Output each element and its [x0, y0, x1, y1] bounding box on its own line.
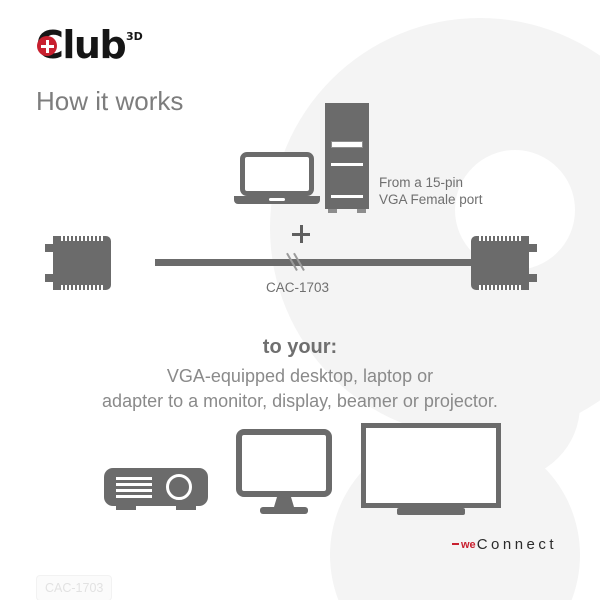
connector-left-pins-bottom — [59, 285, 105, 290]
desktop-tower-icon — [325, 103, 369, 215]
monitor-icon — [236, 429, 332, 515]
poster-canvas: Club 3D How it works From a 15-pin VGA F… — [0, 0, 600, 600]
projector-lens — [166, 474, 192, 500]
projector-vent-2 — [116, 483, 152, 486]
connector-right-pins-top — [477, 236, 523, 241]
description-line2: adapter to a monitor, display, beamer or… — [0, 389, 600, 414]
projector-vent-4 — [116, 495, 152, 498]
weconnect-we-text: we — [461, 539, 476, 551]
description-line1: VGA-equipped desktop, laptop or — [0, 364, 600, 389]
weconnect-dash-icon — [452, 543, 459, 545]
laptop-trackpad — [269, 198, 285, 202]
page-title: How it works — [36, 86, 183, 117]
television-stand — [397, 508, 465, 515]
to-your-heading: to your: — [0, 336, 600, 359]
tower-foot-left — [328, 209, 337, 213]
projector-vent-3 — [116, 489, 152, 492]
tower-drive-bay — [331, 141, 363, 148]
connector-right-pins-bottom — [477, 285, 523, 290]
connector-right-screw-bottom — [528, 274, 537, 282]
weconnect-logo: weConnect — [452, 536, 557, 556]
connector-left-pins-top — [59, 236, 105, 241]
monitor-stand — [260, 507, 308, 514]
connector-left-screw-top — [45, 244, 54, 252]
connector-left-body — [53, 236, 111, 290]
television-screen — [361, 423, 501, 508]
laptop-screen — [240, 152, 314, 196]
television-icon — [361, 423, 501, 518]
cable-wire — [155, 259, 515, 266]
tower-slot-upper — [331, 163, 363, 166]
laptop-icon — [234, 152, 320, 208]
logo-superscript: 3D — [126, 30, 143, 43]
monitor-screen — [236, 429, 332, 497]
tower-slot-lower — [331, 195, 363, 198]
cable-model-label: CAC-1703 — [266, 280, 329, 295]
weconnect-connect-text: Connect — [477, 536, 557, 553]
tower-foot-right — [357, 209, 366, 213]
connector-left-screw-bottom — [45, 274, 54, 282]
projector-body — [104, 468, 208, 506]
connector-right-screw-top — [528, 244, 537, 252]
tower-case — [325, 103, 369, 209]
source-port-label-line2: VGA Female port — [379, 191, 483, 208]
cable-leader-line — [289, 252, 307, 274]
vga-connector-left — [45, 232, 111, 294]
vga-connector-right — [471, 232, 537, 294]
projector-icon — [104, 468, 208, 512]
projector-foot-left — [116, 506, 136, 510]
footer-sku-box: CAC-1703 — [36, 575, 112, 600]
footer-sku-text: CAC-1703 — [45, 581, 103, 595]
source-port-label-line1: From a 15-pin — [379, 174, 483, 191]
connector-right-body — [471, 236, 529, 290]
description-text: VGA-equipped desktop, laptop or adapter … — [0, 364, 600, 414]
projector-foot-right — [176, 506, 196, 510]
projector-vent-1 — [116, 477, 152, 480]
red-circle-plus-icon — [37, 36, 57, 56]
source-port-label: From a 15-pin VGA Female port — [379, 174, 483, 208]
club3d-logo: Club 3D — [36, 30, 166, 66]
